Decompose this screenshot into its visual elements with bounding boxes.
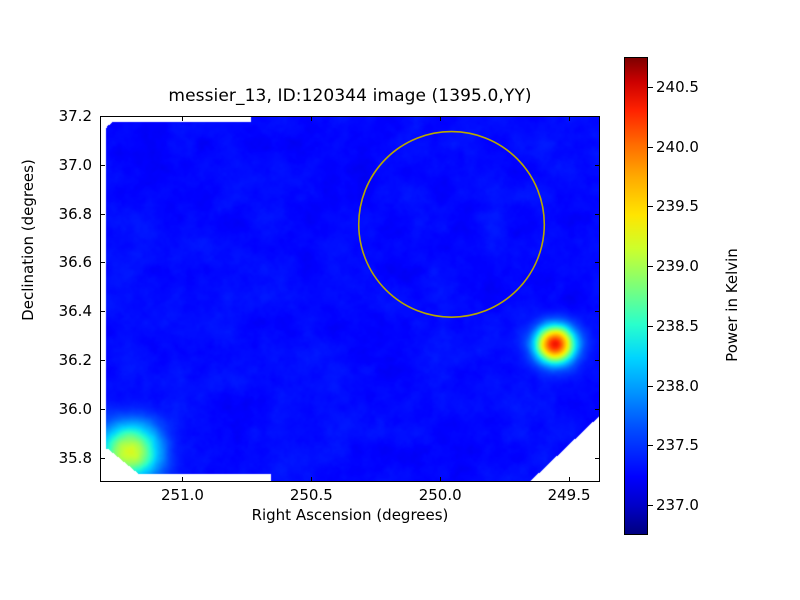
page-title: messier_13, ID:120344 image (1395.0,YY) bbox=[100, 86, 600, 106]
heatmap-image bbox=[101, 117, 600, 482]
y-tick bbox=[100, 458, 105, 459]
x-tick bbox=[182, 477, 183, 482]
y-tick-right bbox=[595, 214, 600, 215]
y-tick-label: 36.2 bbox=[36, 351, 92, 369]
colorbar-tick bbox=[648, 445, 653, 446]
x-tick-top bbox=[182, 116, 183, 121]
y-tick bbox=[100, 409, 105, 410]
y-tick-label: 35.8 bbox=[36, 449, 92, 467]
y-tick-right bbox=[595, 116, 600, 117]
colorbar-tick-label: 240.0 bbox=[656, 138, 699, 156]
x-tick-top bbox=[569, 116, 570, 121]
colorbar-tick bbox=[648, 266, 653, 267]
colorbar-tick-label: 240.5 bbox=[656, 78, 699, 96]
colorbar-tick bbox=[648, 386, 653, 387]
x-tick-label: 251.0 bbox=[137, 486, 227, 504]
x-tick-label: 250.5 bbox=[266, 486, 356, 504]
y-tick bbox=[100, 360, 105, 361]
y-tick-label: 36.0 bbox=[36, 400, 92, 418]
colorbar-tick-label: 239.0 bbox=[656, 257, 699, 275]
y-tick-right bbox=[595, 262, 600, 263]
y-tick-right bbox=[595, 360, 600, 361]
colorbar-tick-label: 238.5 bbox=[656, 317, 699, 335]
colorbar-label: Power in Kelvin bbox=[723, 185, 741, 425]
y-tick-label: 36.8 bbox=[36, 205, 92, 223]
colorbar-tick bbox=[648, 505, 653, 506]
y-tick-label: 36.4 bbox=[36, 302, 92, 320]
colorbar-tick-label: 237.0 bbox=[656, 496, 699, 514]
colorbar-tick bbox=[648, 206, 653, 207]
colorbar-tick bbox=[648, 87, 653, 88]
y-tick bbox=[100, 262, 105, 263]
y-tick bbox=[100, 165, 105, 166]
y-tick-right bbox=[595, 458, 600, 459]
y-tick-label: 37.2 bbox=[36, 107, 92, 125]
x-tick-label: 249.5 bbox=[524, 486, 614, 504]
colorbar bbox=[624, 57, 648, 535]
y-tick-right bbox=[595, 311, 600, 312]
x-tick bbox=[569, 477, 570, 482]
y-tick-right bbox=[595, 165, 600, 166]
y-tick-label: 37.0 bbox=[36, 156, 92, 174]
colorbar-tick bbox=[648, 147, 653, 148]
colorbar-gradient bbox=[625, 58, 647, 534]
colorbar-tick-label: 239.5 bbox=[656, 197, 699, 215]
y-tick bbox=[100, 311, 105, 312]
x-axis-label: Right Ascension (degrees) bbox=[100, 506, 600, 524]
x-tick bbox=[440, 477, 441, 482]
x-tick-label: 250.0 bbox=[395, 486, 485, 504]
colorbar-tick-label: 238.0 bbox=[656, 377, 699, 395]
colorbar-tick bbox=[648, 326, 653, 327]
y-tick-right bbox=[595, 409, 600, 410]
y-tick-label: 36.6 bbox=[36, 253, 92, 271]
x-tick-top bbox=[440, 116, 441, 121]
colorbar-tick-label: 237.5 bbox=[656, 436, 699, 454]
figure-canvas: messier_13, ID:120344 image (1395.0,YY) … bbox=[0, 0, 800, 600]
x-tick bbox=[311, 477, 312, 482]
x-tick-top bbox=[311, 116, 312, 121]
y-tick bbox=[100, 116, 105, 117]
y-axis-label: Declination (degrees) bbox=[19, 120, 37, 360]
heatmap-axes bbox=[100, 116, 600, 482]
y-tick bbox=[100, 214, 105, 215]
